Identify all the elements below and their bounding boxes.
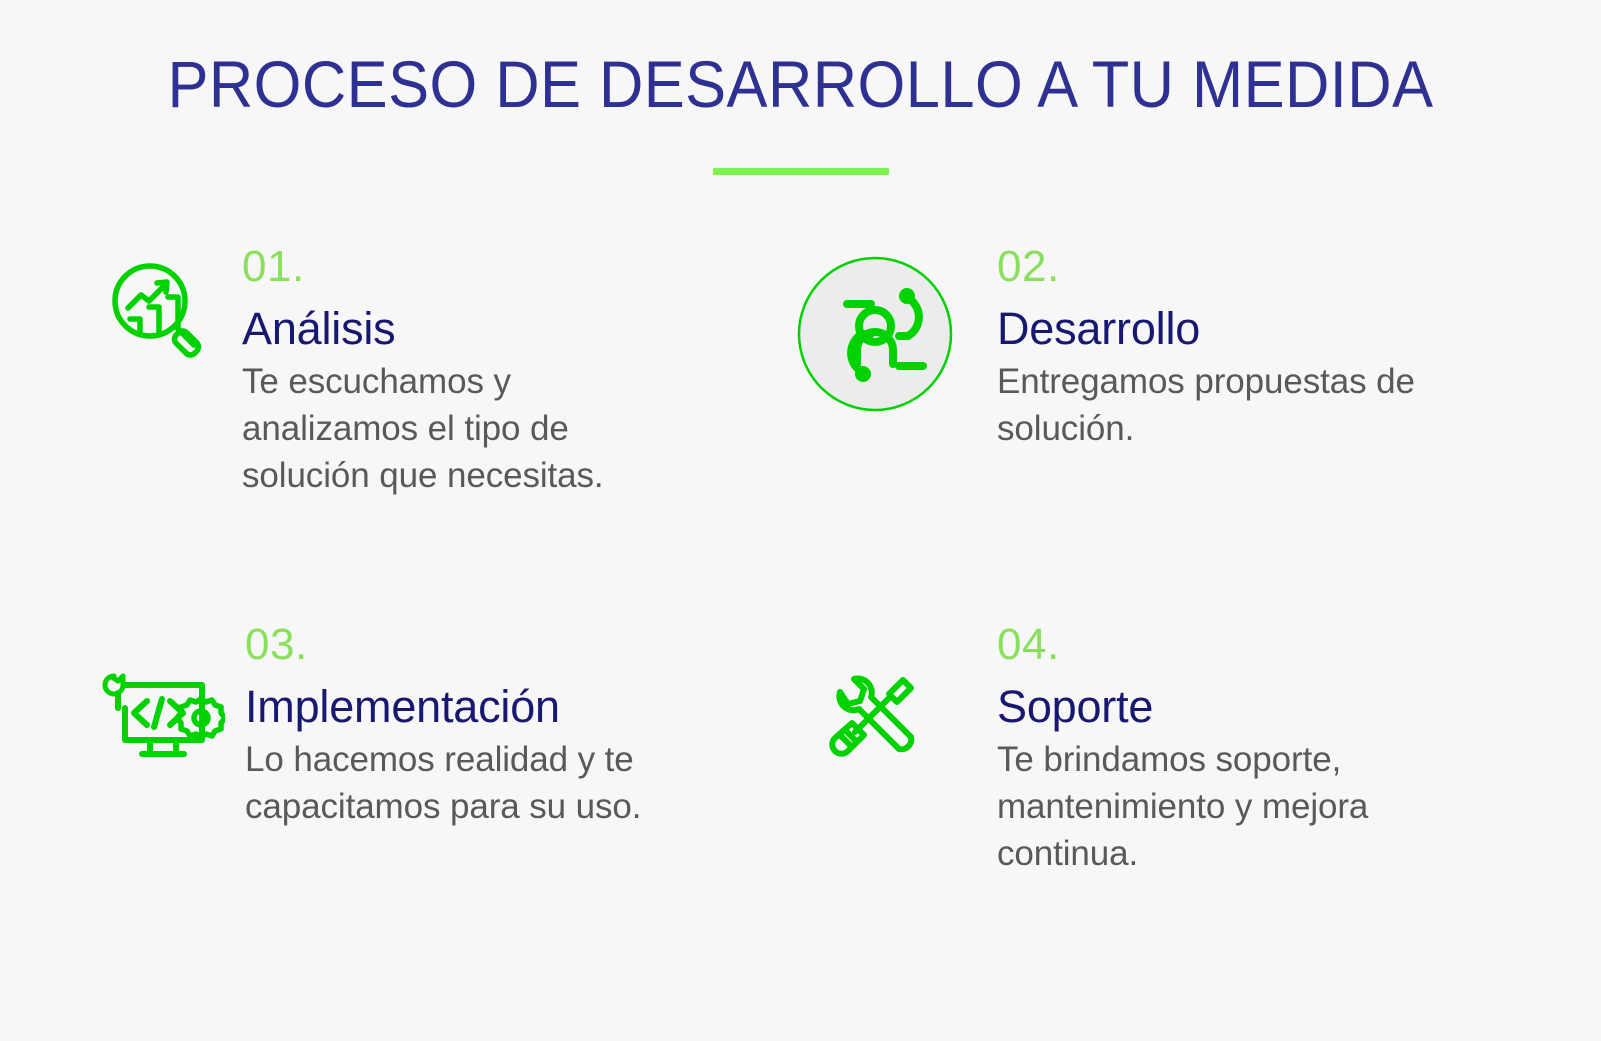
step-text-block: 03. Implementación Lo hacemos realidad y… — [245, 620, 720, 830]
step-card-desarrollo: 02. Desarrollo Entregamos propuestas de … — [795, 242, 1435, 452]
step-description: Te escuchamos y analizamos el tipo de so… — [242, 358, 692, 499]
step-heading: Análisis — [242, 302, 708, 356]
monitor-code-wrench-gear-icon — [100, 668, 225, 763]
step-number: 03. — [245, 620, 720, 670]
step-text-block: 02. Desarrollo Entregamos propuestas de … — [997, 242, 1435, 452]
step-heading: Soporte — [997, 680, 1445, 734]
infographic-root: PROCESO DE DESARROLLO A TU MEDIDA 01. — [0, 0, 1601, 1041]
step-text-block: 01. Análisis Te escuchamos y analizamos … — [242, 242, 708, 499]
step-heading: Implementación — [245, 680, 720, 734]
step-description: Entregamos propuestas de solución. — [997, 358, 1435, 452]
title-divider — [713, 168, 889, 175]
step-card-soporte: 04. Soporte Te brindamos soporte, manten… — [825, 620, 1445, 877]
step-number: 04. — [997, 620, 1445, 670]
steps-grid: 01. Análisis Te escuchamos y analizamos … — [0, 232, 1601, 992]
step-card-analisis: 01. Análisis Te escuchamos y analizamos … — [108, 242, 708, 499]
page-title: PROCESO DE DESARROLLO A TU MEDIDA — [56, 48, 1545, 120]
step-text-block: 04. Soporte Te brindamos soporte, manten… — [997, 620, 1445, 877]
wrench-screwdriver-icon — [825, 670, 917, 762]
step-number: 02. — [997, 242, 1435, 292]
step-description: Lo hacemos realidad y te capacitamos par… — [245, 736, 715, 830]
step-description: Te brindamos soporte, mantenimiento y me… — [997, 736, 1437, 877]
header: PROCESO DE DESARROLLO A TU MEDIDA — [0, 48, 1601, 175]
network-person-circle-icon — [795, 254, 955, 414]
magnifier-bar-chart-icon — [108, 260, 208, 360]
step-number: 01. — [242, 242, 708, 292]
step-card-implementacion: 03. Implementación Lo hacemos realidad y… — [100, 620, 720, 830]
step-heading: Desarrollo — [997, 302, 1435, 356]
